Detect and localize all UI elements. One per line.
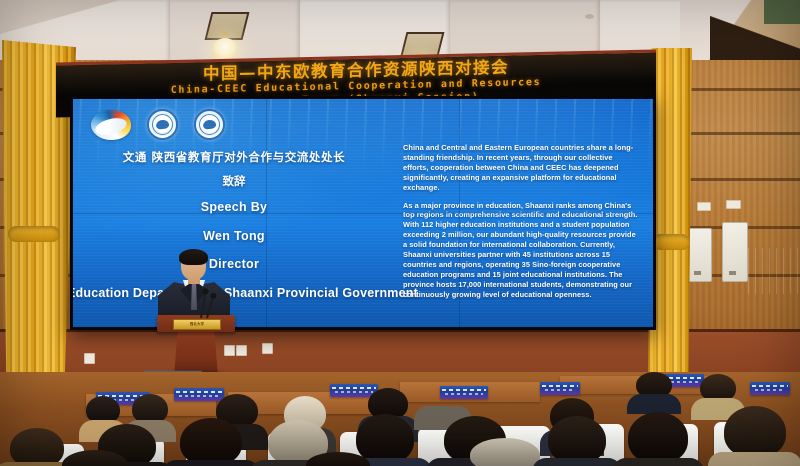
audience-member <box>636 372 672 406</box>
wall-access-panel-1 <box>687 228 712 282</box>
speaker-person <box>152 251 240 323</box>
side-wall-banner <box>748 248 800 294</box>
name-placard <box>540 382 580 395</box>
wall-outlet-1 <box>84 353 95 364</box>
audience-member <box>306 452 370 466</box>
wall-outlet-4 <box>262 343 273 354</box>
forum-emblem-icon <box>91 110 131 140</box>
audience-member <box>424 378 464 420</box>
curtain-tieback-left <box>8 226 60 242</box>
audience-member <box>470 438 540 466</box>
audience-member <box>180 418 242 466</box>
speech-paragraph-1: China and Central and Eastern European c… <box>403 143 639 193</box>
name-placard <box>750 382 790 395</box>
audience-area <box>0 372 800 466</box>
institution-seal-two-icon <box>194 109 225 140</box>
podium-plaque-text: 西北大学 <box>174 320 220 329</box>
screen-logo-row <box>91 109 225 140</box>
ceiling-green-patch <box>764 0 800 24</box>
podium: 西北大学 <box>157 315 235 377</box>
screen-speech-text: China and Central and Eastern European c… <box>403 143 639 308</box>
address-label-chinese: 致辞 <box>73 175 395 188</box>
speaker-name: Wen Tong <box>73 229 395 243</box>
audience-member <box>10 428 64 466</box>
wall-outlet-5 <box>697 202 711 211</box>
speech-paragraph-2: As a major province in education, Shaanx… <box>403 201 639 300</box>
audience-member <box>700 374 736 410</box>
audience-member <box>548 416 606 466</box>
speaker-name-title-chinese: 文通 陕西省教育厅对外合作与交流处处长 <box>73 151 395 164</box>
podium-plaque: 西北大学 <box>173 319 221 330</box>
institution-seal-one-icon <box>147 109 178 140</box>
wall-access-panel-2 <box>722 222 748 282</box>
audience-member <box>62 450 128 466</box>
audience-member <box>724 406 786 466</box>
audience-member <box>628 412 688 466</box>
wall-outlet-6 <box>726 200 741 209</box>
conference-hall-photo: 中国—中东欧教育合作资源陕西对接会 China-CEEC Educational… <box>0 0 800 466</box>
wall-outlet-3 <box>236 345 247 356</box>
curtain-tieback-right <box>652 234 690 250</box>
